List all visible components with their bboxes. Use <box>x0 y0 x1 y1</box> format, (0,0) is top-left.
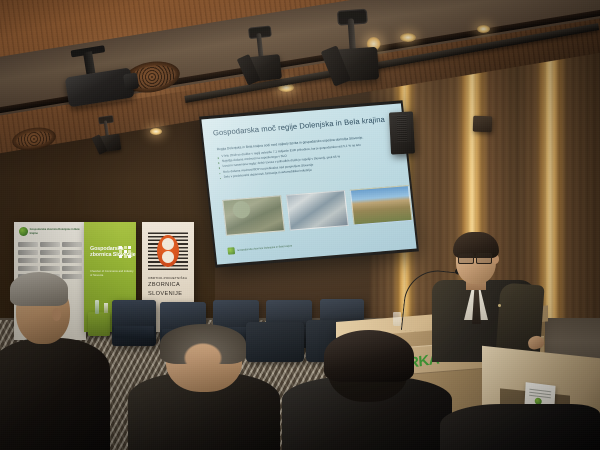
gzs-banner-subtitle: Chamber of Commerce and Industry of Slov… <box>90 270 136 277</box>
sponsor-logo <box>62 242 82 247</box>
lapel-pin-icon <box>498 304 501 307</box>
ozs-logo-icon <box>157 235 179 267</box>
audience-torso <box>440 404 600 450</box>
logo-cell <box>124 246 127 249</box>
slide-photo <box>286 190 349 231</box>
recessed-downlight-icon <box>477 25 490 33</box>
wall-speaker <box>473 116 493 133</box>
logo-cell <box>119 250 122 253</box>
audience-hair <box>10 272 68 306</box>
slide-footer-logo: Gospodarska zbornica Dolenjske in Bele k… <box>227 243 292 255</box>
logo-cell <box>124 255 127 258</box>
sponsor-logo <box>40 250 60 255</box>
audience-ear <box>52 308 61 321</box>
projection-screen: Gospodarska moč regije Dolenjska in Bela… <box>199 100 419 267</box>
presenter <box>432 232 536 352</box>
ozs-line-2: ZBORNICA <box>148 282 180 288</box>
water-glass <box>393 312 401 326</box>
slide-body: Regija Dolenjska in Bela krajina sodi me… <box>216 133 399 180</box>
lens <box>476 253 492 264</box>
sponsor-board-header: Gospodarska zbornica Dolenjske in Bele k… <box>19 227 86 236</box>
audience-member <box>440 404 600 450</box>
slide-title: Gospodarska moč regije Dolenjska in Bela… <box>212 114 394 138</box>
sponsor-board-heading: Gospodarska zbornica Dolenjske in Bele k… <box>30 228 86 235</box>
sponsor-logo <box>18 242 38 247</box>
slide-surface: Gospodarska moč regije Dolenjska in Bela… <box>201 103 416 264</box>
audience-hair <box>160 324 246 364</box>
sponsor-logo <box>18 258 38 263</box>
logo-cell <box>119 255 122 258</box>
recessed-downlight-icon <box>400 33 416 42</box>
sponsor-logo <box>62 266 82 271</box>
sponsor-logo <box>40 258 60 263</box>
logo-cell <box>124 250 127 253</box>
projector-lens-icon <box>123 72 139 90</box>
sponsor-logo <box>18 250 38 255</box>
audience-member <box>128 328 280 450</box>
slide-photo <box>350 185 413 226</box>
leaf-logo-icon <box>227 247 235 255</box>
sponsor-logo <box>40 242 60 247</box>
slide-photo <box>222 195 285 236</box>
sponsor-logo <box>62 250 82 255</box>
lens <box>458 253 474 264</box>
wall-speaker <box>389 111 415 154</box>
sponsor-logo <box>18 266 38 271</box>
leaf-logo-icon <box>19 227 28 236</box>
logo-cell <box>128 255 131 258</box>
recessed-downlight-icon <box>150 128 162 135</box>
audience-torso <box>0 338 110 450</box>
audience-member <box>282 336 452 450</box>
ozs-line-3: SLOVENIJE <box>148 291 182 297</box>
conference-photo: Gospodarska moč regije Dolenjska in Bela… <box>0 0 600 450</box>
eyeglasses-icon <box>458 253 494 262</box>
ozs-line-1: OBRTNO-PODJETNIŠKA <box>148 276 187 280</box>
sponsor-logo <box>62 258 82 263</box>
sponsor-logo <box>40 266 60 271</box>
slide-footer-logo-text: Gospodarska zbornica Dolenjske in Bele k… <box>237 244 292 252</box>
chair-back <box>112 300 156 327</box>
logo-cell <box>128 250 131 253</box>
gzs-logo-icon <box>119 246 131 258</box>
logo-cell <box>128 246 131 249</box>
slide-photo-strip <box>222 185 412 236</box>
audience-hair <box>324 330 414 382</box>
logo-cell <box>119 246 122 249</box>
audience-member <box>0 278 110 450</box>
